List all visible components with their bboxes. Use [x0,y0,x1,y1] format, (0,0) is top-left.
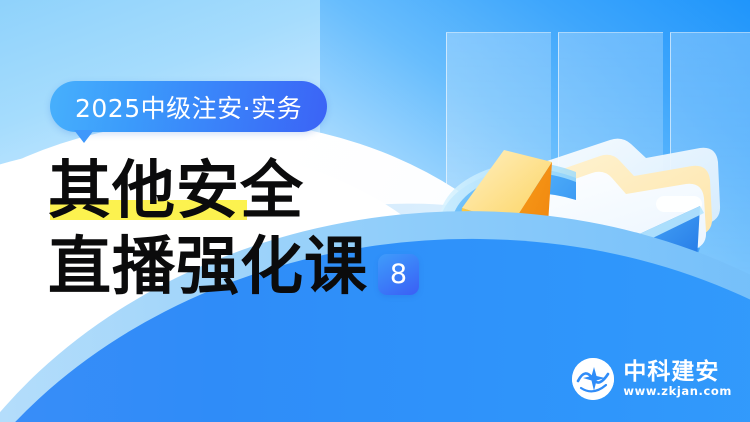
brand-url: www.zkjan.com [623,386,732,398]
brand-logo-text: 中科建安 www.zkjan.com [623,361,732,398]
title-block: 其他安全 直播强化课 8 [48,152,468,300]
title-line-2: 直播强化课 [48,232,368,300]
episode-badge-number: 8 [390,261,407,288]
episode-badge: 8 [378,254,419,295]
category-pill-label: 2025中级注安·实务 [75,89,302,125]
brand-logo: 中科建安 www.zkjan.com [572,358,732,400]
category-pill-tail [74,130,94,143]
category-pill: 2025中级注安·实务 [50,81,327,132]
brand-name: 中科建安 [623,361,732,384]
title-line-1: 其他安全 [48,156,304,224]
zkjan-logo-mark-icon [572,358,614,400]
title-line-1-row: 其他安全 [48,152,468,224]
title-line-2-row: 直播强化课 8 [48,228,468,300]
course-banner: 2025中级注安·实务 其他安全 直播强化课 8 中科建安 www.zkjan [0,0,750,422]
